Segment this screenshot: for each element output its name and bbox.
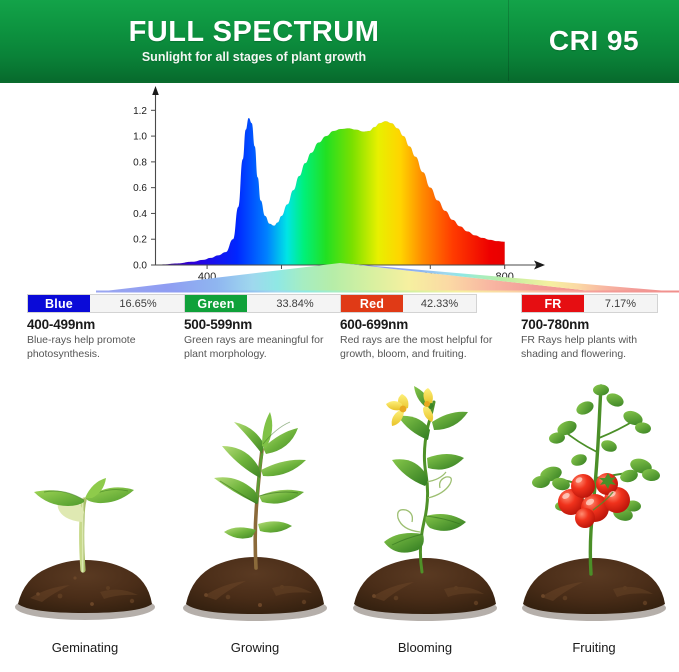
y-tick-label: 1.2 xyxy=(133,106,147,117)
legend-item-fr[interactable]: FR 7.17% 700-780nm FR Rays help plants w… xyxy=(521,294,673,362)
legend-name-red: Red xyxy=(341,295,403,312)
stage-label-geminating: Geminating xyxy=(0,640,170,655)
legend-percent-fr: 7.17% xyxy=(584,295,657,312)
legend-chip-green: Green 33.84% xyxy=(184,294,344,313)
y-tick-label: 0.4 xyxy=(133,209,147,220)
header-left-block: FULL SPECTRUM Sunlight for all stages of… xyxy=(0,0,508,81)
legend-desc-blue: Blue-rays help promote photosynthesis. xyxy=(27,334,187,362)
legend-desc-red: Red rays are the most helpful for growth… xyxy=(340,334,512,362)
cri-badge: CRI 95 xyxy=(549,25,639,57)
growth-stages: Geminating xyxy=(0,382,679,672)
spectrum-chart: 0.00.20.40.60.81.01.2 400500600700800 xyxy=(0,84,679,289)
stage-blooming: Blooming xyxy=(340,382,510,672)
legend-percent-blue: 16.65% xyxy=(90,295,186,312)
spectrum-band-svg xyxy=(0,262,679,294)
seedling-illustration-icon xyxy=(0,382,170,637)
legend-percent-red: 42.33% xyxy=(403,295,476,312)
growing-plant-illustration-icon xyxy=(170,382,340,637)
stage-geminating: Geminating xyxy=(0,382,170,672)
legend-range-fr: 700-780nm xyxy=(521,317,673,332)
legend-item-blue[interactable]: Blue 16.65% 400-499nm Blue-rays help pro… xyxy=(27,294,187,362)
legend-item-green[interactable]: Green 33.84% 500-599nm Green rays are me… xyxy=(184,294,344,362)
page-subtitle: Sunlight for all stages of plant growth xyxy=(142,50,366,64)
stage-label-fruiting: Fruiting xyxy=(509,640,679,655)
y-tick-label: 1.0 xyxy=(133,132,147,143)
header-bottom-rule xyxy=(0,81,679,83)
legend-chip-red: Red 42.33% xyxy=(340,294,477,313)
y-axis-ticks: 0.00.20.40.60.81.01.2 xyxy=(133,106,155,272)
legend-desc-fr: FR Rays help plants with shading and flo… xyxy=(521,334,673,362)
page-title: FULL SPECTRUM xyxy=(129,17,380,47)
legend-name-green: Green xyxy=(185,295,247,312)
fruiting-plant-illustration-icon xyxy=(509,382,679,637)
stage-fruiting: Fruiting xyxy=(509,382,679,672)
legend-range-red: 600-699nm xyxy=(340,317,512,332)
spectrum-chart-svg: 0.00.20.40.60.81.01.2 400500600700800 xyxy=(0,84,679,289)
legend-percent-green: 33.84% xyxy=(247,295,343,312)
stage-growing: Growing xyxy=(170,382,340,672)
legend-chip-blue: Blue 16.65% xyxy=(27,294,187,313)
spectrum-gradient-band xyxy=(0,262,679,294)
spectrum-legend: Blue 16.65% 400-499nm Blue-rays help pro… xyxy=(0,294,679,380)
legend-desc-green: Green rays are meaningful for plant morp… xyxy=(184,334,344,362)
spectral-curve-fill xyxy=(155,84,527,269)
y-tick-label: 0.8 xyxy=(133,157,147,168)
blooming-plant-illustration-icon xyxy=(340,382,510,637)
legend-name-blue: Blue xyxy=(28,295,90,312)
legend-name-fr: FR xyxy=(522,295,584,312)
header-banner: FULL SPECTRUM Sunlight for all stages of… xyxy=(0,0,679,81)
stage-label-blooming: Blooming xyxy=(340,640,510,655)
y-tick-label: 0.6 xyxy=(133,183,147,194)
legend-range-green: 500-599nm xyxy=(184,317,344,332)
header-right-block: CRI 95 xyxy=(509,0,679,81)
stage-label-growing: Growing xyxy=(170,640,340,655)
legend-range-blue: 400-499nm xyxy=(27,317,187,332)
y-tick-label: 0.2 xyxy=(133,235,147,246)
y-axis-arrow-icon xyxy=(152,86,159,95)
legend-item-red[interactable]: Red 42.33% 600-699nm Red rays are the mo… xyxy=(340,294,512,362)
legend-chip-fr: FR 7.17% xyxy=(521,294,658,313)
spectrum-band-base xyxy=(96,291,679,293)
